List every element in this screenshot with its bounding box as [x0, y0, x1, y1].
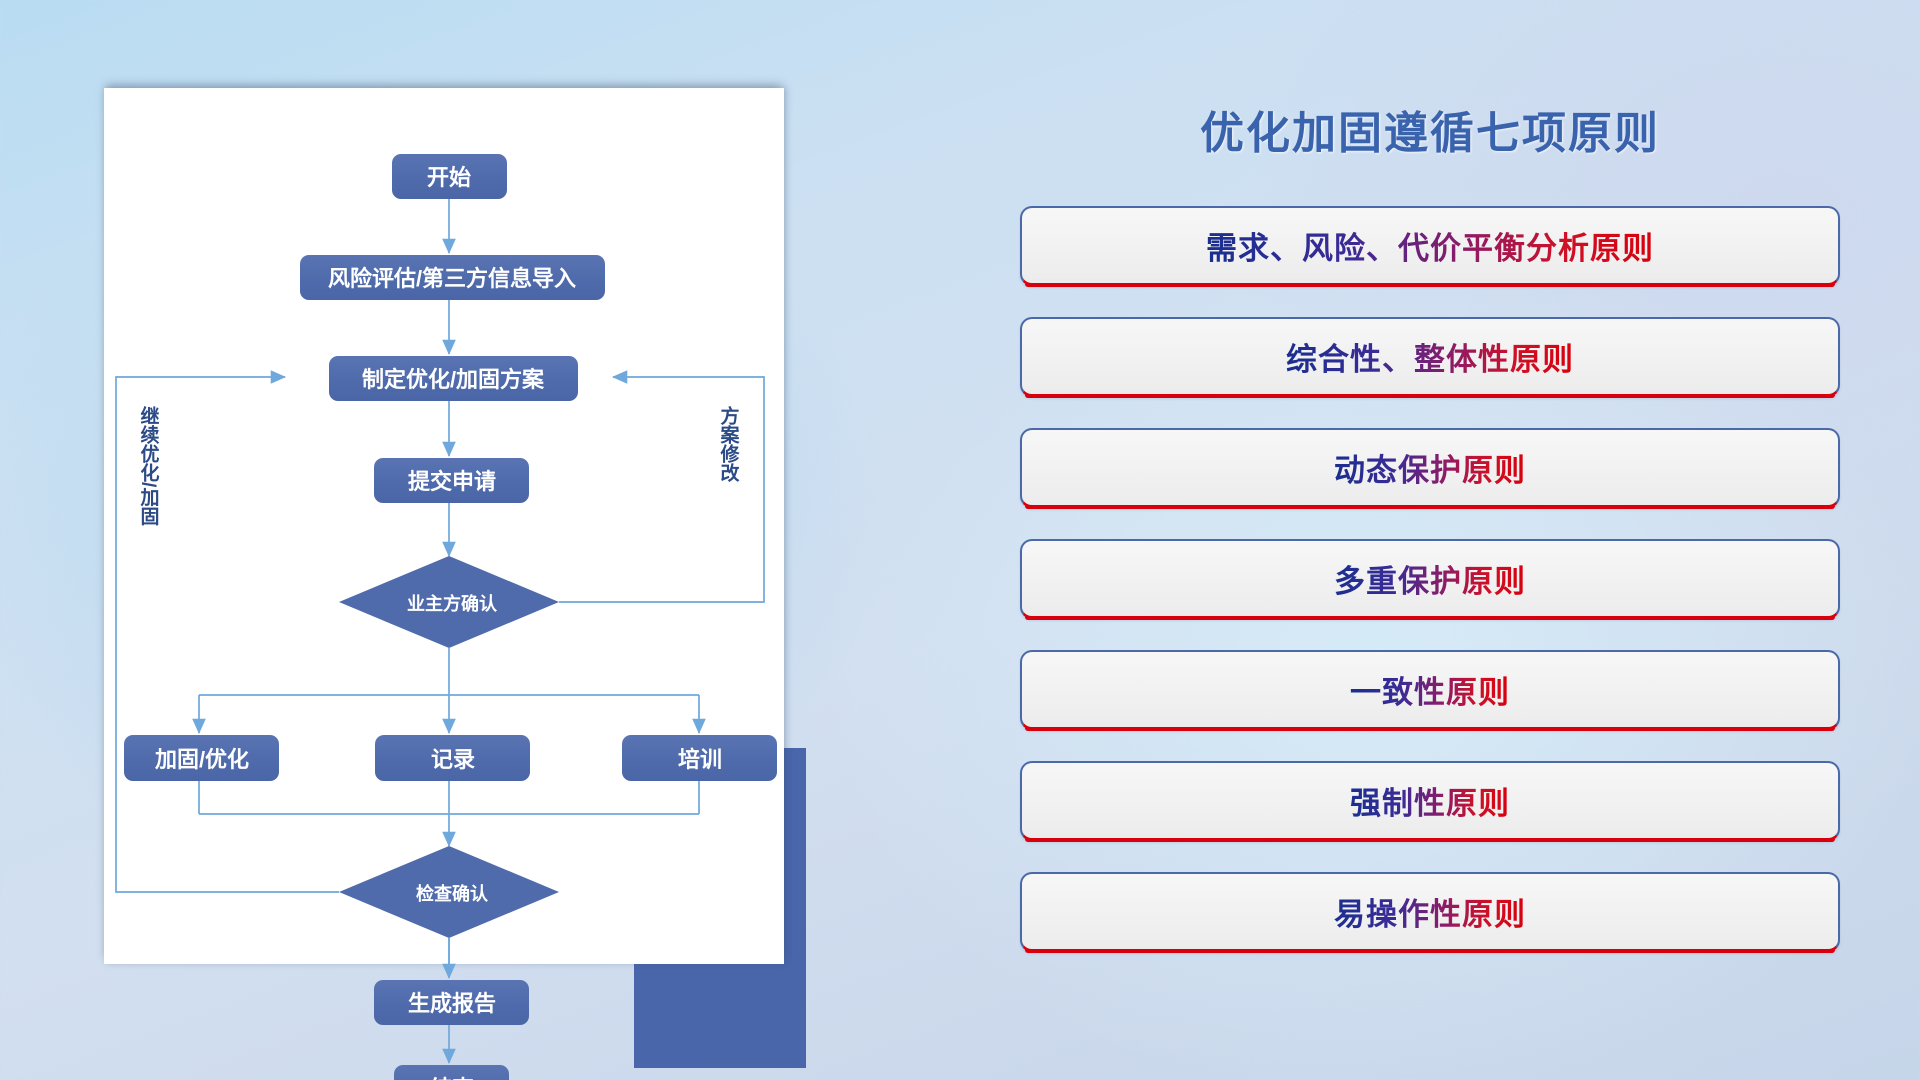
- flowchart-diagram: 开始 风险评估/第三方信息导入 制定优化/加固方案 提交申请 业主方确认: [104, 88, 784, 964]
- principle-item-1[interactable]: 需求、风险、代价平衡分析原则: [1020, 206, 1840, 286]
- flow-node-reinforce-label: 加固/优化: [154, 747, 249, 772]
- edge-label-right-loop: 方案修改: [718, 405, 741, 483]
- flow-node-end[interactable]: 结束: [394, 1065, 509, 1080]
- flow-node-report[interactable]: 生成报告: [374, 980, 529, 1025]
- principle-item-6[interactable]: 强制性原则: [1020, 761, 1840, 841]
- flow-node-risk-assessment-label: 风险评估/第三方信息导入: [328, 266, 576, 291]
- flow-node-start-label: 开始: [427, 165, 471, 190]
- principle-item-4-label: 多重保护原则: [1334, 556, 1526, 601]
- flow-node-end-label: 结束: [430, 1076, 475, 1080]
- principle-item-7-label: 易操作性原则: [1334, 889, 1526, 934]
- flow-node-plan-label: 制定优化/加固方案: [362, 367, 545, 392]
- flow-node-owner-confirm[interactable]: 业主方确认: [339, 556, 559, 648]
- flow-node-train[interactable]: 培训: [622, 735, 777, 781]
- flow-node-plan[interactable]: 制定优化/加固方案: [329, 356, 578, 401]
- principle-item-2-label: 综合性、整体性原则: [1286, 334, 1574, 379]
- flow-node-check-confirm-label: 检查确认: [416, 883, 489, 904]
- principles-title: 优化加固遵循七项原则: [1020, 110, 1840, 158]
- principle-item-4[interactable]: 多重保护原则: [1020, 539, 1840, 619]
- principle-item-7[interactable]: 易操作性原则: [1020, 872, 1840, 952]
- flow-node-record[interactable]: 记录: [375, 735, 530, 781]
- flowchart-card: 开始 风险评估/第三方信息导入 制定优化/加固方案 提交申请 业主方确认: [104, 88, 784, 964]
- edge-label-right-loop-text: 方案修改: [718, 405, 741, 483]
- edge-label-left-loop-text: 继续优化/加固: [138, 405, 161, 526]
- edge-label-left-loop: 继续优化/加固: [138, 405, 161, 526]
- flow-node-start[interactable]: 开始: [392, 154, 507, 199]
- flow-node-submit-label: 提交申请: [408, 469, 496, 494]
- principle-item-5-label: 一致性原则: [1350, 667, 1510, 712]
- principle-item-5[interactable]: 一致性原则: [1020, 650, 1840, 730]
- flowchart-container: 开始 风险评估/第三方信息导入 制定优化/加固方案 提交申请 业主方确认: [104, 88, 784, 984]
- flow-node-report-label: 生成报告: [408, 991, 496, 1016]
- flow-node-reinforce[interactable]: 加固/优化: [124, 735, 279, 781]
- flow-node-owner-confirm-label: 业主方确认: [407, 593, 498, 614]
- principle-item-3[interactable]: 动态保护原则: [1020, 428, 1840, 508]
- principle-item-6-label: 强制性原则: [1350, 778, 1510, 823]
- principles-list: 需求、风险、代价平衡分析原则 综合性、整体性原则 动态保护原则 多重保护原则 一…: [1020, 206, 1840, 952]
- flow-node-record-label: 记录: [431, 747, 475, 772]
- flow-node-submit[interactable]: 提交申请: [374, 458, 529, 503]
- flow-node-train-label: 培训: [678, 747, 722, 772]
- flow-node-check-confirm[interactable]: 检查确认: [339, 846, 559, 938]
- principle-item-3-label: 动态保护原则: [1334, 445, 1526, 490]
- principle-item-2[interactable]: 综合性、整体性原则: [1020, 317, 1840, 397]
- principles-panel: 优化加固遵循七项原则 需求、风险、代价平衡分析原则 综合性、整体性原则 动态保护…: [1020, 100, 1840, 1000]
- principle-item-1-label: 需求、风险、代价平衡分析原则: [1206, 223, 1654, 268]
- flow-node-risk-assessment[interactable]: 风险评估/第三方信息导入: [300, 255, 605, 300]
- flowchart-diagram-bottom: 生成报告 结束: [104, 938, 784, 1080]
